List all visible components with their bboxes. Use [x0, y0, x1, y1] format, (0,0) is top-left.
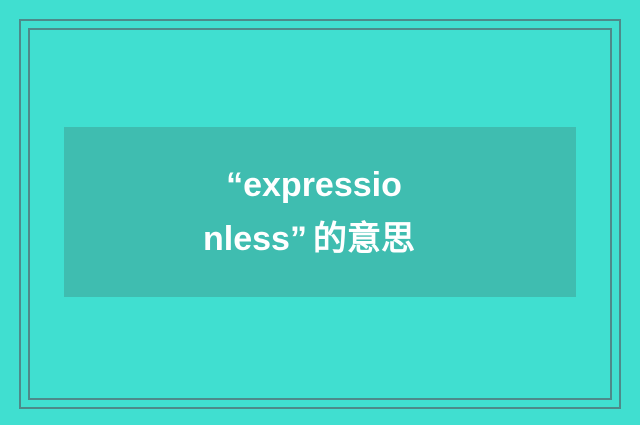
headline-line-1: “expressio: [226, 158, 402, 212]
poster-canvas: “expressio nless”的意思: [0, 0, 640, 425]
headline-line-2-latin: nless”: [203, 220, 307, 258]
headline-card: “expressio nless”的意思: [64, 127, 576, 297]
headline-line-2-cjk: 的意思: [307, 219, 415, 259]
headline-line-2: nless”的意思: [203, 212, 415, 266]
